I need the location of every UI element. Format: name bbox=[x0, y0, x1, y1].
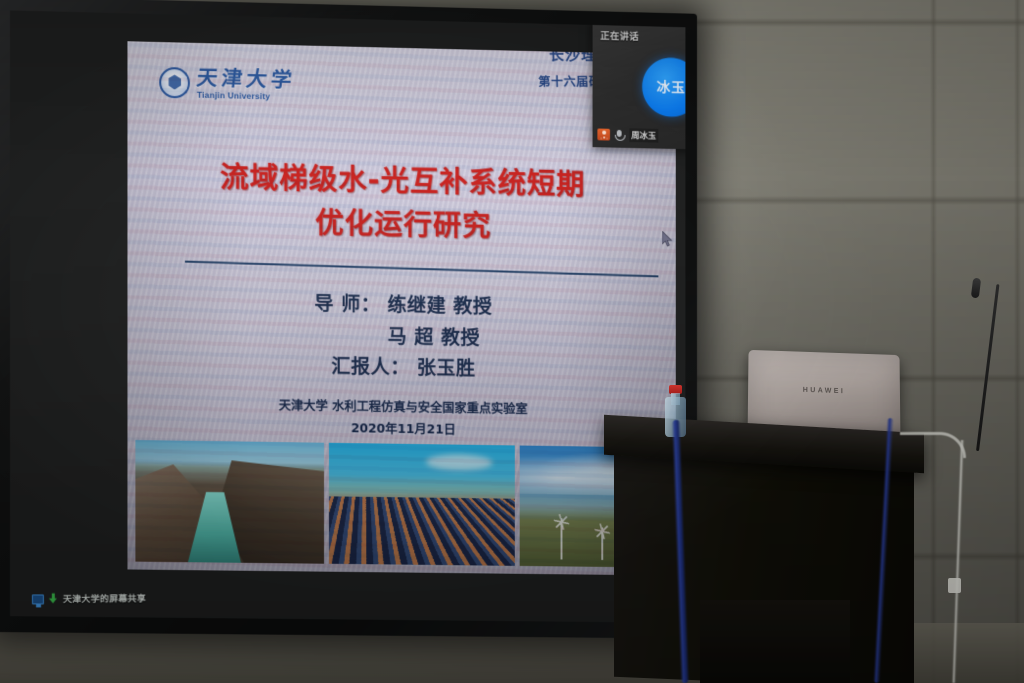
laptop-brand-label: HUAWEI bbox=[803, 386, 845, 394]
slide-title-line1: 流域梯级水-光互补系统短期 bbox=[220, 160, 585, 201]
tianjin-university-seal-icon bbox=[159, 67, 190, 99]
slide-divider bbox=[185, 261, 658, 278]
mouse-pointer-icon bbox=[662, 231, 673, 247]
microphone-icon[interactable] bbox=[614, 129, 626, 141]
presentation-display[interactable]: 天津大学 Tianjin University 流域梯级水-光互补系统短期 优化… bbox=[0, 0, 697, 639]
solar-panel-farm-photo bbox=[329, 443, 516, 566]
participant-avatar[interactable]: 冰玉 bbox=[642, 57, 685, 117]
reservoir-water bbox=[185, 492, 242, 563]
screen-share-label: 天津大学的屏幕共享 bbox=[63, 591, 146, 605]
arrow-down-icon bbox=[48, 593, 59, 604]
podium-base bbox=[700, 600, 850, 683]
university-logo: 天津大学 Tianjin University bbox=[159, 66, 295, 101]
presentation-date: 2020年11月21日 bbox=[127, 414, 675, 444]
hydropower-dam-canyon-photo bbox=[135, 440, 323, 564]
slide-title: 流域梯级水-光互补系统短期 优化运行研究 bbox=[127, 153, 675, 251]
screen-share-badge: 天津大学的屏幕共享 bbox=[32, 591, 146, 605]
speaking-status-label: 正在讲话 bbox=[600, 28, 639, 43]
university-name-cn: 天津大学 bbox=[196, 67, 297, 90]
participant-icon bbox=[597, 128, 610, 140]
slide-credits: 导 师： 练继建 教授 马 超 教授 汇报人： 张玉胜 bbox=[127, 284, 675, 387]
university-name-en: Tianjin University bbox=[197, 91, 296, 102]
video-conference-panel[interactable]: 正在讲话 冰玉 周冰玉 bbox=[593, 19, 686, 150]
solar-panel-rows bbox=[329, 496, 516, 566]
participant-name-label: 周冰玉 bbox=[629, 128, 658, 142]
monitor-icon bbox=[32, 594, 44, 604]
slide-photo-strip bbox=[135, 440, 675, 568]
cable-clip bbox=[948, 578, 961, 593]
conference-room-scene: 天津大学 Tianjin University 流域梯级水-光互补系统短期 优化… bbox=[0, 0, 1024, 683]
slide-affiliation-block: 天津大学 水利工程仿真与安全国家重点实验室 2020年11月21日 bbox=[127, 392, 675, 444]
slide-title-line2: 优化运行研究 bbox=[127, 197, 675, 252]
display-screen[interactable]: 天津大学 Tianjin University 流域梯级水-光互补系统短期 优化… bbox=[10, 10, 685, 622]
affiliation-text: 天津大学 水利工程仿真与安全国家重点实验室 bbox=[279, 397, 528, 416]
participant-name-bar: 周冰玉 bbox=[597, 128, 658, 143]
